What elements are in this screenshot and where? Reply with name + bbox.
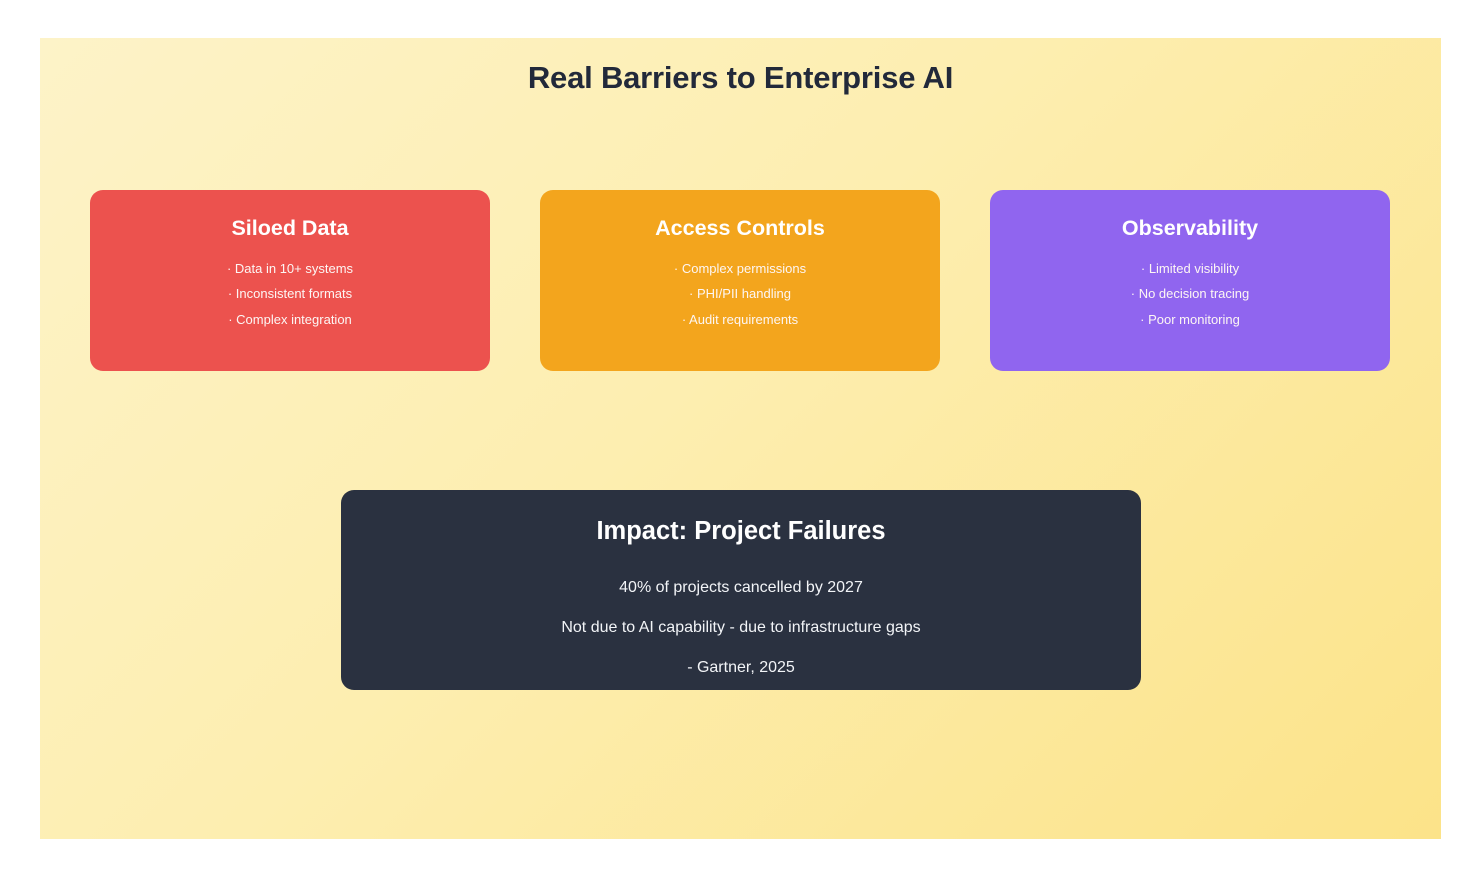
impact-explanation: Not due to AI capability - due to infras…	[341, 608, 1141, 648]
barrier-bullet: · Complex integration	[90, 307, 490, 332]
barrier-bullet: · Data in 10+ systems	[90, 256, 490, 281]
barrier-bullet: · Inconsistent formats	[90, 281, 490, 306]
barrier-card-observability[interactable]: Observability · Limited visibility · No …	[990, 190, 1390, 371]
impact-statistic: 40% of projects cancelled by 2027	[341, 568, 1141, 608]
impact-card[interactable]: Impact: Project Failures 40% of projects…	[341, 490, 1141, 690]
barrier-card-access-controls[interactable]: Access Controls · Complex permissions · …	[540, 190, 940, 371]
barrier-bullet: · Audit requirements	[540, 307, 940, 332]
barrier-bullet: · No decision tracing	[990, 281, 1390, 306]
barrier-bullet: · Poor monitoring	[990, 307, 1390, 332]
barrier-bullet: · Complex permissions	[540, 256, 940, 281]
page-title: Real Barriers to Enterprise AI	[40, 60, 1441, 96]
barrier-bullet-list: · Limited visibility · No decision traci…	[990, 256, 1390, 332]
barrier-card-title: Observability	[990, 215, 1390, 241]
barrier-bullet-list: · Data in 10+ systems · Inconsistent for…	[90, 256, 490, 332]
barrier-card-title: Siloed Data	[90, 215, 490, 241]
barrier-cards-row: Siloed Data · Data in 10+ systems · Inco…	[90, 190, 1391, 371]
barrier-card-title: Access Controls	[540, 215, 940, 241]
barrier-card-siloed-data[interactable]: Siloed Data · Data in 10+ systems · Inco…	[90, 190, 490, 371]
impact-card-title: Impact: Project Failures	[341, 516, 1141, 546]
barrier-bullet: · PHI/PII handling	[540, 281, 940, 306]
slide-canvas: Real Barriers to Enterprise AI Siloed Da…	[40, 38, 1441, 839]
barrier-bullet-list: · Complex permissions · PHI/PII handling…	[540, 256, 940, 332]
barrier-bullet: · Limited visibility	[990, 256, 1390, 281]
impact-source-attribution: - Gartner, 2025	[341, 648, 1141, 688]
